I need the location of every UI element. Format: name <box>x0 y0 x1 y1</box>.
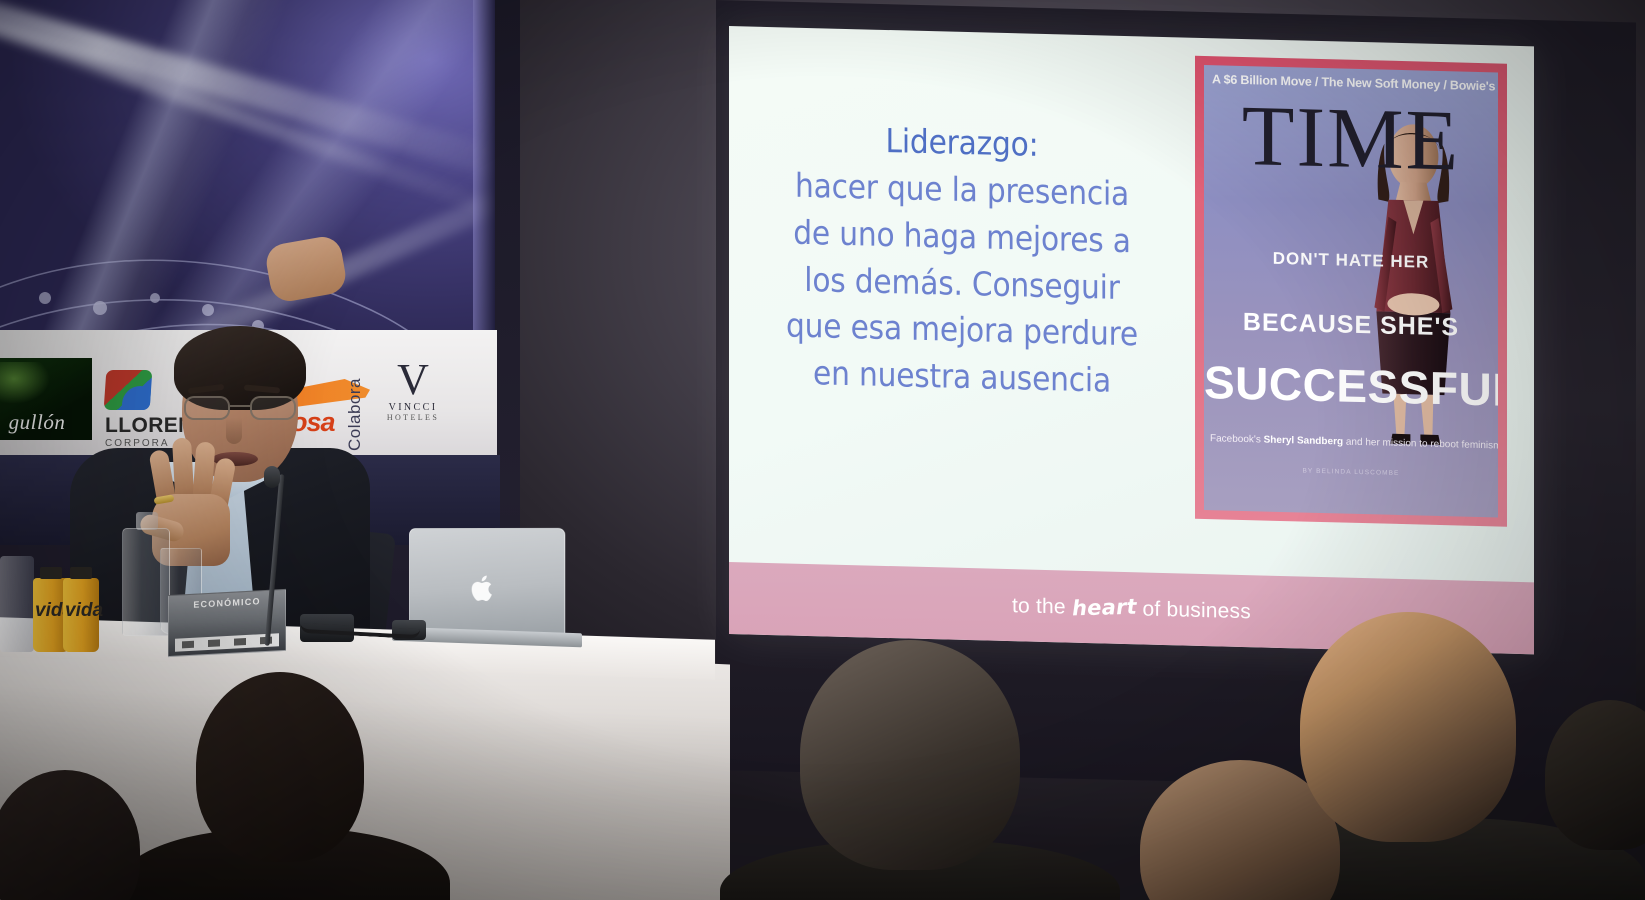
slide-tagline: to the heart of business <box>1012 593 1251 624</box>
glasses-lens <box>250 396 296 420</box>
placard-logo-mark <box>208 639 220 647</box>
projection-screen: Liderazgo: hacer que la presencia de uno… <box>729 26 1534 654</box>
tagline-before: to the <box>1012 594 1066 619</box>
tagline-heart-word: heart <box>1071 594 1137 620</box>
backdrop-banner <box>0 0 495 330</box>
placard-logo-mark <box>182 641 194 649</box>
time-cover-byline: BY BELINDA LUSCOMBE <box>1204 465 1498 479</box>
audience-member-head <box>1300 612 1516 842</box>
audience-member-head <box>196 672 364 862</box>
placard-logo-strip <box>175 633 279 651</box>
glasses-lens <box>184 396 230 420</box>
slide-body: Liderazgo: hacer que la presencia de uno… <box>729 26 1534 582</box>
presentation-slide: Liderazgo: hacer que la presencia de uno… <box>729 26 1534 654</box>
globe-network-icon <box>0 130 460 330</box>
time-headline-line2: BECAUSE SHE'S <box>1204 307 1498 343</box>
gullon-logo-label: gullón <box>9 410 66 440</box>
banner-edge <box>473 0 495 330</box>
time-headline-line3: SUCCESSFUL <box>1204 355 1498 416</box>
time-cover-inner: A $6 Billion Move / The New Soft Money /… <box>1204 65 1498 517</box>
juice-bottle-label: vida <box>65 600 97 622</box>
decanter <box>0 556 34 652</box>
time-deck-name: Sheryl Sandberg <box>1264 435 1343 448</box>
time-masthead: TIME <box>1204 91 1498 184</box>
time-deck-prefix: Facebook's <box>1210 433 1264 445</box>
time-magazine-cover: A $6 Billion Move / The New Soft Money /… <box>1195 56 1507 527</box>
glasses-bridge <box>230 405 250 407</box>
placard-logo-mark <box>234 638 246 646</box>
speaker-glasses <box>184 396 296 420</box>
photo-scene: gullón LLORENTE CORPORA osa Colabora V V… <box>0 0 1645 900</box>
slide-quote-text: Liderazgo: hacer que la presencia de uno… <box>747 114 1177 406</box>
laptop[interactable] <box>409 528 565 639</box>
tagline-after: of business <box>1143 597 1251 624</box>
audience-member-head <box>800 640 1020 870</box>
microphone-head <box>264 466 280 488</box>
apple-logo-icon <box>469 573 495 603</box>
juice-bottle: vida <box>63 578 99 652</box>
